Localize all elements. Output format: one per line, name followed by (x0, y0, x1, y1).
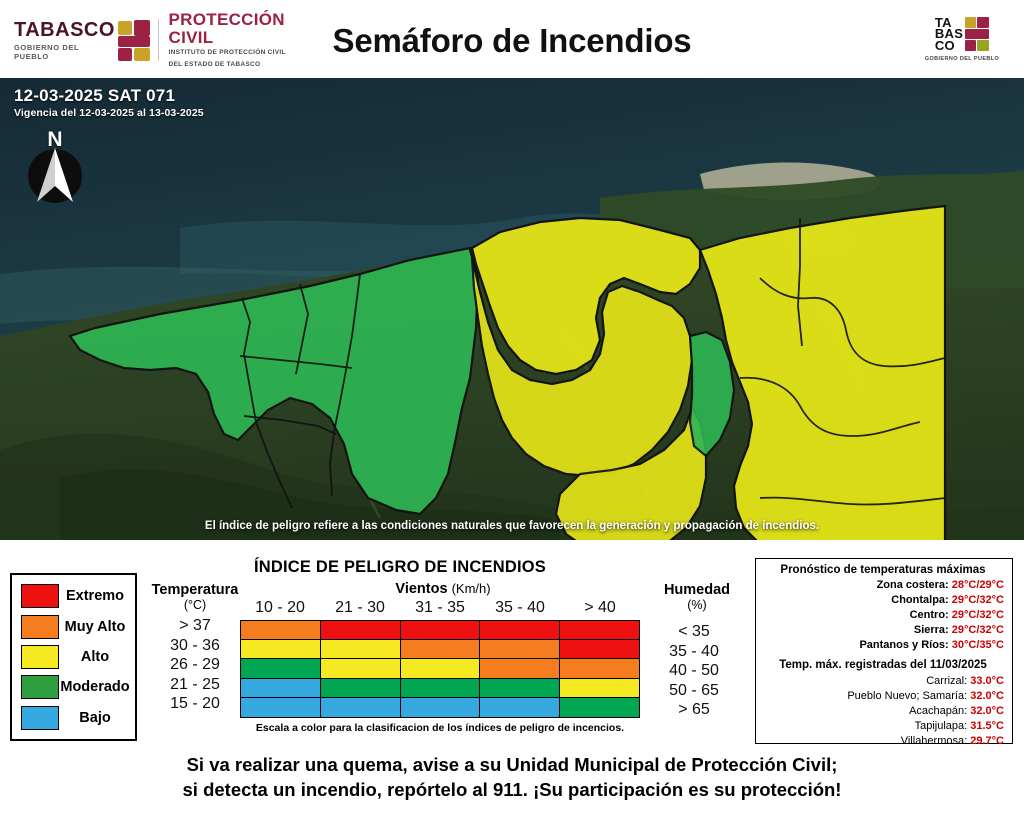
legend-swatch-muy-alto (21, 615, 59, 639)
temperature-axis-label: Temperatura (145, 582, 245, 598)
index-matrix-caption: Escala a color para la clasificacion de … (200, 722, 680, 734)
infographic-page: TABASCO GOBIERNO DEL PUEBLO PROTECCIÓN C… (0, 0, 1024, 818)
wind-tick-3: 35 - 40 (480, 599, 560, 617)
matrix-cell (480, 621, 560, 640)
tabasco-stacked-wordmark: TA BAS CO (935, 17, 989, 53)
legend-swatch-extremo (21, 584, 59, 608)
humidity-tick-labels: < 35 35 - 40 40 - 50 50 - 65 > 65 (648, 622, 740, 720)
recorded-value-3: 31.5°C (970, 720, 1004, 732)
page-title: Semáforo de Incendios (0, 22, 1024, 60)
wind-tick-0: 10 - 20 (240, 599, 320, 617)
wind-tick-1: 21 - 30 (320, 599, 400, 617)
recorded-value-4: 29.7°C (970, 735, 1004, 747)
public-safety-message-line-1: Si va realizar una quema, avise a su Uni… (0, 752, 1024, 777)
forecast-title: Pronóstico de temperaturas máximas (762, 564, 1004, 576)
matrix-cell (560, 698, 639, 717)
tabasco-gobierno-logo: TA BAS CO GOBIERNO DEL PUEBLO (914, 10, 1010, 68)
wind-axis-header: Vientos (Km/h) (248, 581, 638, 597)
temp-tick-1: 30 - 36 (145, 636, 245, 656)
recorded-name-2: Acachapán: (909, 705, 967, 717)
humidity-axis-label: Humedad (648, 582, 746, 598)
wind-tick-2: 31 - 35 (400, 599, 480, 617)
wind-tick-4: > 40 (560, 599, 640, 617)
matrix-cell (480, 659, 560, 678)
public-safety-message-line-2: si detecta un incendio, repórtelo al 911… (0, 777, 1024, 802)
map-satellite-imagery (0, 78, 1024, 540)
matrix-cell (401, 621, 481, 640)
temp-tick-0: > 37 (145, 616, 245, 636)
forecast-row-zona-costera: Zona costera: 28°C/29°C (762, 578, 1004, 593)
matrix-cell (401, 679, 481, 698)
matrix-cell (321, 679, 401, 698)
temp-tick-3: 21 - 25 (145, 675, 245, 695)
matrix-cell (560, 679, 639, 698)
matrix-cell (401, 640, 481, 659)
temperature-forecast-panel: Pronóstico de temperaturas máximas Zona … (755, 558, 1013, 744)
legend-item-alto: Alto (12, 643, 135, 671)
matrix-cell (321, 640, 401, 659)
proteccion-civil-subtitle-2: DEL ESTADO DE TABASCO (169, 60, 314, 69)
forecast-zone-name-0: Zona costera: (877, 579, 949, 591)
legend-swatch-alto (21, 645, 59, 669)
temperature-axis: Temperatura (°C) > 37 30 - 36 26 - 29 21… (145, 582, 245, 714)
humidity-axis: Humedad (%) (648, 582, 746, 612)
map-validity-label: Vigencia del 12-03-2025 al 13-03-2025 (14, 107, 204, 119)
humidity-axis-unit: (%) (648, 598, 746, 612)
forecast-row-pantanos-y-rios: Pantanos y Ríos: 30°C/35°C (762, 638, 1004, 653)
public-safety-message: Si va realizar una quema, avise a su Uni… (0, 752, 1024, 802)
matrix-cell (480, 679, 560, 698)
index-matrix-title: ÍNDICE DE PELIGRO DE INCENDIOS (140, 558, 660, 577)
legend-label-bajo: Bajo (59, 710, 135, 726)
matrix-cell (401, 698, 481, 717)
matrix-cell (480, 698, 560, 717)
forecast-row-centro: Centro: 29°C/32°C (762, 608, 1004, 623)
matrix-cell (560, 659, 639, 678)
hum-tick-4: > 65 (648, 700, 740, 720)
hum-tick-0: < 35 (648, 622, 740, 642)
matrix-cell (560, 621, 639, 640)
forecast-zone-name-3: Sierra: (914, 624, 949, 636)
forecast-zone-value-2: 29°C/32°C (952, 609, 1004, 621)
recorded-name-3: Tapijulapa: (915, 720, 968, 732)
recorded-row-pueblo-nuevo-samaria: Pueblo Nuevo; Samaría: 32.0°C (762, 689, 1004, 704)
danger-level-legend: Extremo Muy Alto Alto Moderado Bajo (10, 573, 137, 741)
tabasco-gobierno-subtitle: GOBIERNO DEL PUEBLO (925, 56, 999, 62)
matrix-cell (241, 621, 321, 640)
recorded-temps-title: Temp. máx. registradas del 11/03/2025 (762, 659, 1004, 671)
hum-tick-2: 40 - 50 (648, 661, 740, 681)
legend-item-bajo: Bajo (12, 704, 135, 732)
region-alto-east (700, 206, 945, 540)
recorded-value-1: 32.0°C (970, 690, 1004, 702)
forecast-zone-value-1: 29°C/32°C (952, 594, 1004, 606)
tabasco-glyph-icon-right (965, 17, 989, 53)
forecast-zone-name-2: Centro: (910, 609, 949, 621)
north-arrow-icon: N (20, 128, 90, 206)
danger-index-matrix (240, 620, 640, 718)
matrix-cell (321, 659, 401, 678)
temp-tick-4: 15 - 20 (145, 694, 245, 714)
matrix-cell (241, 698, 321, 717)
forecast-zone-value-0: 28°C/29°C (952, 579, 1004, 591)
matrix-cell (321, 621, 401, 640)
forecast-row-sierra: Sierra: 29°C/32°C (762, 623, 1004, 638)
matrix-cell (401, 659, 481, 678)
matrix-cell (560, 640, 639, 659)
matrix-cell (321, 698, 401, 717)
temperature-axis-unit: (°C) (145, 598, 245, 612)
wind-axis-unit: (Km/h) (452, 581, 491, 596)
forecast-zone-name-1: Chontalpa: (891, 594, 948, 606)
fire-danger-map[interactable]: 12-03-2025 SAT 071 Vigencia del 12-03-20… (0, 78, 1024, 540)
hum-tick-1: 35 - 40 (648, 642, 740, 662)
wind-axis-label: Vientos (395, 581, 447, 597)
temperature-tick-labels: > 37 30 - 36 26 - 29 21 - 25 15 - 20 (145, 616, 245, 714)
legend-label-alto: Alto (59, 649, 135, 665)
hum-tick-3: 50 - 65 (648, 681, 740, 701)
recorded-row-villahermosa: Villahermosa: 29.7°C (762, 734, 1004, 749)
recorded-value-0: 33.0°C (970, 675, 1004, 687)
legend-and-data-panel: Extremo Muy Alto Alto Moderado Bajo ÍNDI… (0, 540, 1024, 818)
forecast-zone-value-4: 30°C/35°C (952, 639, 1004, 651)
matrix-row (241, 659, 639, 678)
tabasco-line-3: CO (935, 40, 955, 52)
forecast-row-chontalpa: Chontalpa: 29°C/32°C (762, 593, 1004, 608)
map-date-label: 12-03-2025 SAT 071 (14, 86, 175, 106)
legend-item-muy-alto: Muy Alto (12, 613, 135, 641)
matrix-row (241, 621, 639, 640)
recorded-row-carrizal: Carrizal: 33.0°C (762, 674, 1004, 689)
recorded-value-2: 32.0°C (970, 705, 1004, 717)
forecast-zone-value-3: 29°C/32°C (952, 624, 1004, 636)
recorded-row-tapijulapa: Tapijulapa: 31.5°C (762, 719, 1004, 734)
legend-swatch-moderado (21, 675, 59, 699)
legend-label-muy-alto: Muy Alto (59, 619, 135, 635)
recorded-name-1: Pueblo Nuevo; Samaría: (847, 690, 967, 702)
header-bar: TABASCO GOBIERNO DEL PUEBLO PROTECCIÓN C… (0, 0, 1024, 78)
recorded-row-acachapan: Acachapán: 32.0°C (762, 704, 1004, 719)
matrix-cell (241, 640, 321, 659)
legend-label-moderado: Moderado (59, 679, 135, 695)
matrix-cell (241, 679, 321, 698)
wind-tick-labels: 10 - 20 21 - 30 31 - 35 35 - 40 > 40 (240, 599, 640, 617)
matrix-row (241, 640, 639, 659)
legend-swatch-bajo (21, 706, 59, 730)
temp-tick-2: 26 - 29 (145, 655, 245, 675)
matrix-row (241, 679, 639, 698)
legend-item-extremo: Extremo (12, 582, 135, 610)
forecast-zone-name-4: Pantanos y Ríos: (859, 639, 948, 651)
map-footnote: El índice de peligro refiere a las condi… (0, 520, 1024, 532)
matrix-cell (480, 640, 560, 659)
legend-label-extremo: Extremo (59, 588, 135, 604)
recorded-name-0: Carrizal: (926, 675, 967, 687)
matrix-row (241, 698, 639, 717)
legend-item-moderado: Moderado (12, 673, 135, 701)
matrix-cell (241, 659, 321, 678)
recorded-name-4: Villahermosa: (901, 735, 967, 747)
